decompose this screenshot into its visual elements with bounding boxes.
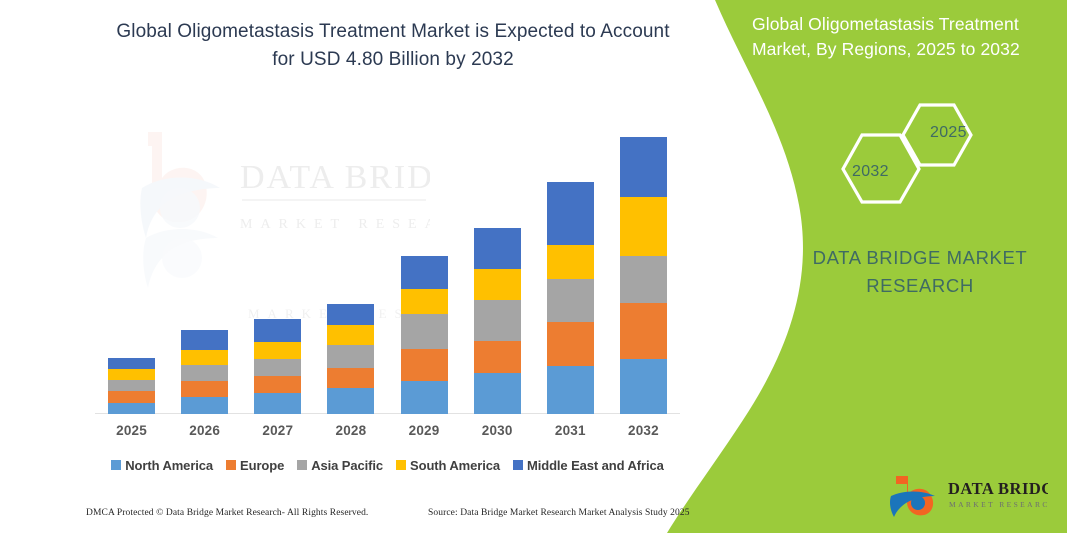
bar-segment: [108, 380, 155, 391]
bar-segment: [181, 330, 228, 350]
bar-segment: [620, 303, 667, 359]
infographic-root: Global Oligometastasis Treatment Market,…: [0, 0, 1067, 533]
bar-2027: [254, 319, 301, 414]
legend-swatch-icon: [111, 460, 121, 470]
x-axis-tick-2028: 2028: [314, 423, 387, 438]
bar-segment: [327, 388, 374, 414]
logo-name-line2: MARKET RESEARCH: [949, 500, 1048, 509]
bar-segment: [474, 300, 521, 341]
stacked-bar-chart: [95, 120, 680, 414]
bar-segment: [401, 314, 448, 349]
bar-segment: [547, 279, 594, 321]
bar-segment: [620, 137, 667, 197]
chart-legend: North AmericaEuropeAsia PacificSouth Ame…: [95, 455, 680, 475]
hexagon-label-2032: 2032: [852, 163, 889, 181]
bar-segment: [181, 365, 228, 381]
x-axis-tick-2027: 2027: [241, 423, 314, 438]
x-axis-tick-2031: 2031: [534, 423, 607, 438]
bar-segment: [108, 369, 155, 380]
bar-segment: [401, 256, 448, 289]
bar-segment: [401, 381, 448, 414]
x-axis-tick-2030: 2030: [461, 423, 534, 438]
bar-segment: [181, 350, 228, 365]
x-axis-tick-2029: 2029: [388, 423, 461, 438]
bar-segment: [620, 197, 667, 256]
databridge-logo-mark-icon: DATA BRIDGE MARKET RESEARCH: [888, 472, 1048, 518]
bar-segment: [254, 342, 301, 359]
legend-swatch-icon: [513, 460, 523, 470]
x-axis-labels: 20252026202720282029203020312032: [95, 423, 680, 445]
legend-swatch-icon: [226, 460, 236, 470]
bar-segment: [327, 345, 374, 368]
bar-segment: [108, 403, 155, 414]
legend-swatch-icon: [297, 460, 307, 470]
page-title: Global Oligometastasis Treatment Market …: [103, 18, 683, 74]
bar-segment: [547, 182, 594, 245]
bar-segment: [181, 381, 228, 397]
bar-segment: [401, 289, 448, 314]
bar-2030: [474, 228, 521, 414]
bar-segment: [254, 376, 301, 393]
bar-segment: [474, 341, 521, 373]
bar-2026: [181, 330, 228, 414]
logo-dot-shape: [911, 496, 925, 510]
x-axis-tick-2032: 2032: [607, 423, 680, 438]
bar-segment: [474, 373, 521, 414]
legend-item-label: Asia Pacific: [311, 458, 383, 473]
bar-2031: [547, 182, 594, 414]
bar-segment: [547, 245, 594, 279]
x-axis-tick-2025: 2025: [95, 423, 168, 438]
logo-name-line1: DATA BRIDGE: [948, 479, 1048, 498]
bar-2032: [620, 137, 667, 414]
footer-copyright: DMCA Protected © Data Bridge Market Rese…: [86, 508, 368, 518]
bar-segment: [327, 304, 374, 326]
bar-2025: [108, 358, 155, 414]
bar-segment: [181, 397, 228, 414]
panel-title: Global Oligometastasis Treatment Market,…: [752, 12, 1024, 62]
footer-source: Source: Data Bridge Market Research Mark…: [428, 508, 690, 518]
bar-segment: [254, 393, 301, 414]
bar-segment: [620, 256, 667, 303]
bar-segment: [474, 228, 521, 269]
legend-item[interactable]: Europe: [226, 458, 284, 473]
legend-item-label: North America: [125, 458, 213, 473]
legend-item-label: Europe: [240, 458, 284, 473]
bar-segment: [547, 322, 594, 366]
hexagon-label-2025: 2025: [930, 124, 967, 142]
bar-segment: [620, 359, 667, 414]
bar-segment: [327, 368, 374, 388]
legend-item[interactable]: Asia Pacific: [297, 458, 383, 473]
x-axis-tick-2026: 2026: [168, 423, 241, 438]
panel-brand-name: DATA BRIDGE MARKET RESEARCH: [790, 244, 1050, 300]
panel-brand-line2: RESEARCH: [790, 272, 1050, 300]
legend-item[interactable]: Middle East and Africa: [513, 458, 664, 473]
bar-segment: [108, 391, 155, 402]
hexagon-outline-icon: [820, 95, 1000, 210]
bar-segment: [327, 325, 374, 345]
bar-segment: [108, 358, 155, 369]
bar-2029: [401, 256, 448, 414]
panel-brand-line1: DATA BRIDGE MARKET: [790, 244, 1050, 272]
legend-item[interactable]: South America: [396, 458, 500, 473]
hexagon-badges: 2025 2032: [820, 95, 1000, 210]
bar-segment: [254, 319, 301, 342]
databridge-logo: DATA BRIDGE MARKET RESEARCH: [888, 472, 1048, 518]
legend-item-label: Middle East and Africa: [527, 458, 664, 473]
legend-item[interactable]: North America: [111, 458, 213, 473]
bar-segment: [254, 359, 301, 376]
bar-segment: [474, 269, 521, 300]
legend-item-label: South America: [410, 458, 500, 473]
legend-swatch-icon: [396, 460, 406, 470]
bar-segment: [547, 366, 594, 414]
bar-segment: [401, 349, 448, 381]
bar-2028: [327, 304, 374, 414]
